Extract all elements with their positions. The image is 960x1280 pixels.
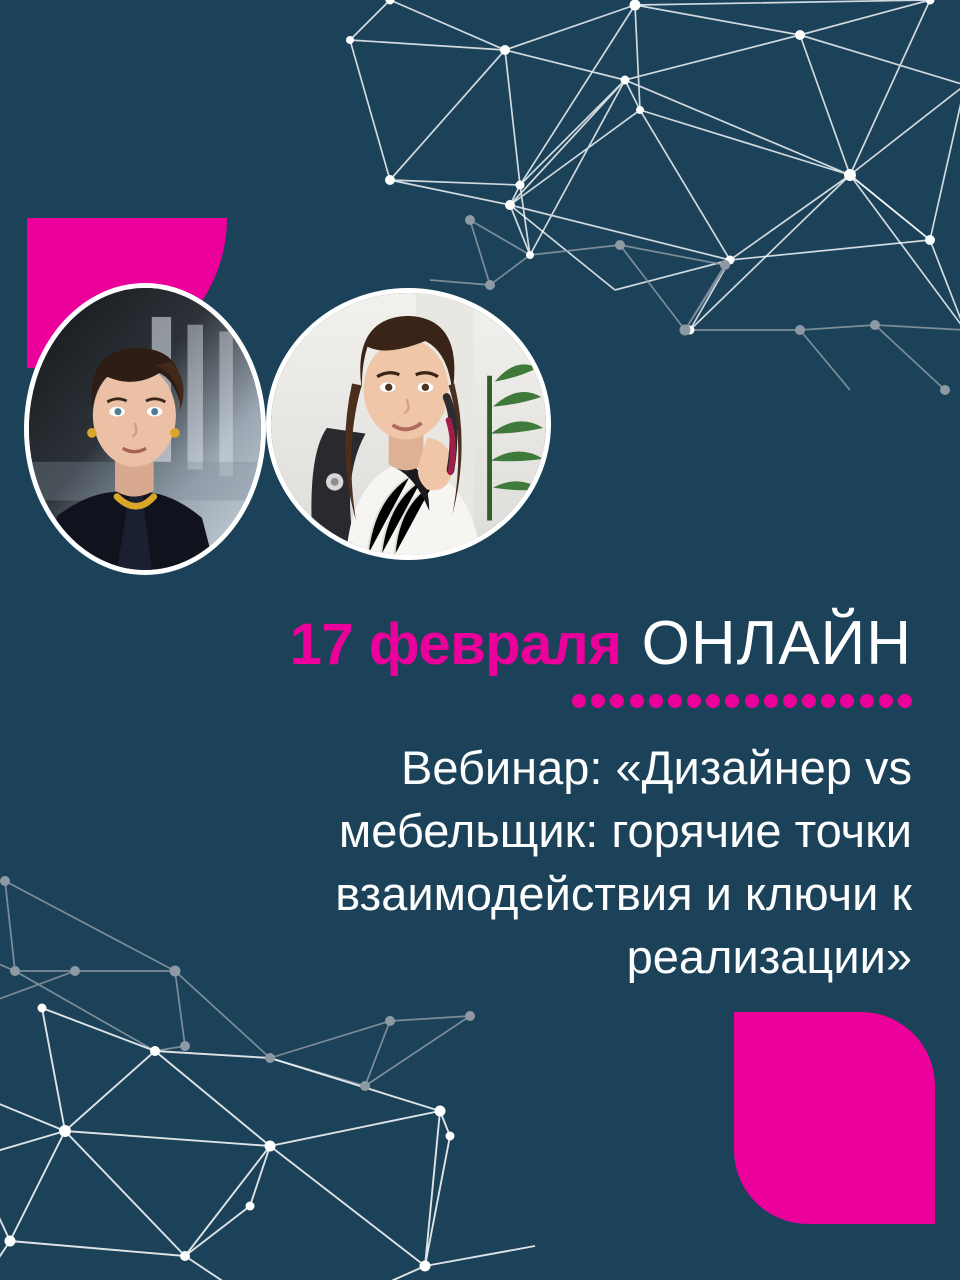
- divider-dot: [879, 694, 893, 708]
- divider-dot: [572, 694, 586, 708]
- divider-dot: [745, 694, 759, 708]
- divider-dot: [764, 694, 778, 708]
- speaker-portrait-left-image: [29, 288, 261, 570]
- divider-dot: [706, 694, 720, 708]
- divider-dot: [783, 694, 797, 708]
- divider-dot: [821, 694, 835, 708]
- event-date: 17 февраля: [290, 611, 622, 678]
- webinar-title: Вебинар: «Дизайнер vs мебельщик: горячие…: [40, 736, 912, 988]
- speaker-photo-left: [24, 283, 266, 575]
- event-format: ОНЛАЙН: [642, 608, 912, 679]
- divider-dot: [898, 694, 912, 708]
- divider-dot: [668, 694, 682, 708]
- title-line: Вебинар: «Дизайнер vs: [40, 736, 912, 799]
- divider-dot: [840, 694, 854, 708]
- divider-dot: [630, 694, 644, 708]
- title-line: взаимодействия и ключи к: [40, 862, 912, 925]
- webinar-poster: 17 февраляОНЛАЙН Вебинар: «Дизайнер vs м…: [0, 0, 960, 1280]
- magenta-shape-bottom: [734, 1012, 935, 1224]
- speaker-portrait-right-image: [271, 293, 546, 555]
- divider-dot: [591, 694, 605, 708]
- title-line: мебельщик: горячие точки: [40, 799, 912, 862]
- divider-dot: [610, 694, 624, 708]
- dotted-divider: [572, 692, 912, 710]
- title-line: реализации»: [40, 925, 912, 988]
- divider-dot: [860, 694, 874, 708]
- divider-dot: [649, 694, 663, 708]
- divider-dot: [687, 694, 701, 708]
- speaker-photo-right: [266, 288, 551, 560]
- headline-row: 17 февраляОНЛАЙН: [0, 608, 912, 679]
- divider-dot: [725, 694, 739, 708]
- divider-dot: [802, 694, 816, 708]
